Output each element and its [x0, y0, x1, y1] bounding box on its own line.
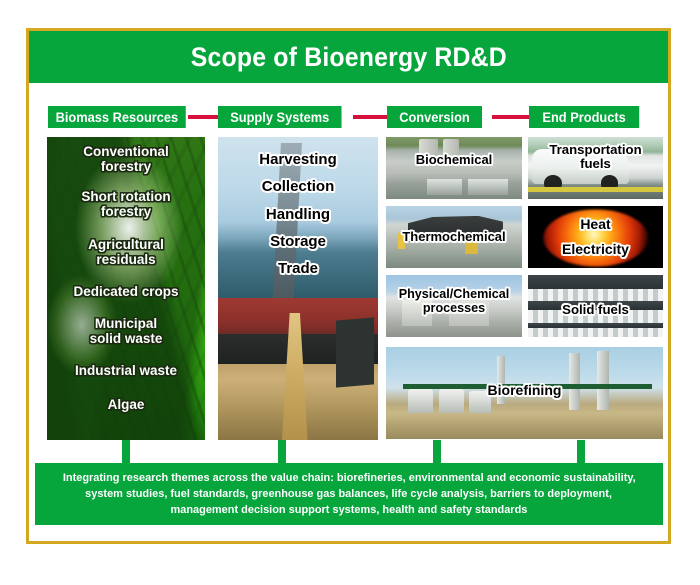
conversion-item-biochemical: Biochemical: [386, 153, 522, 167]
biomass-item-conventional-forestry: Conventional forestry: [47, 145, 205, 174]
footer-line-3: management decision support systems, hea…: [171, 502, 528, 518]
supply-item-storage: Storage: [218, 234, 378, 250]
stage-header-biomass-resources[interactable]: Biomass Resources: [48, 106, 186, 128]
biomass-item-municipal-solid-waste: Municipal solid waste: [47, 317, 205, 346]
pellet-row-light-1: [528, 289, 663, 301]
product-item-electricity: Electricity: [528, 242, 663, 257]
stage-header-supply-systems[interactable]: Supply Systems: [218, 106, 342, 128]
conversion-item-physical-chemical-processes: Physical/Chemical processes: [386, 288, 522, 315]
supply-item-collection: Collection: [218, 179, 378, 195]
page-title: Scope of Bioenergy RD&D: [190, 42, 506, 73]
stage-header-conversion[interactable]: Conversion: [387, 106, 482, 128]
biomass-item-short-rotation-forestry: Short rotation forestry: [47, 190, 205, 219]
column-supply-systems: Harvesting Collection Handling Storage T…: [218, 137, 378, 440]
footer-banner: Integrating research themes across the v…: [35, 463, 663, 525]
product-item-solid-fuels: Solid fuels: [528, 303, 663, 317]
column-conversion: Biochemical Thermochemical Physical/Chem…: [386, 137, 522, 337]
solid-fuels-briquettes-photo: Solid fuels: [528, 275, 663, 337]
supply-item-harvesting: Harvesting: [218, 152, 378, 168]
yellow-curb-shape: [528, 187, 663, 191]
transportation-van-photo: Transportation fuels: [528, 137, 663, 199]
heat-electricity-fire-photo: Heat Electricity: [528, 206, 663, 268]
thermochemical-plant-photo: Thermochemical: [386, 206, 522, 268]
biorefining-label: Biorefining: [386, 383, 663, 398]
biochemical-plant-photo: Biochemical: [386, 137, 522, 199]
supply-item-handling: Handling: [218, 207, 378, 223]
footer-line-2: system studies, fuel standards, greenhou…: [86, 486, 613, 502]
footer-line-1: Integrating research themes across the v…: [63, 470, 636, 486]
distillation-tower-2: [597, 351, 609, 410]
structure-shape-2: [468, 179, 509, 195]
dock-structure-shape: [336, 317, 374, 387]
pellet-row-light-3: [528, 328, 663, 337]
harbour-grain-loading-photo: Harvesting Collection Handling Storage T…: [218, 137, 378, 440]
column-end-products: Transportation fuels Heat Electricity So…: [528, 137, 663, 337]
forest-canopy-photo: Conventional forestry Short rotation for…: [47, 137, 205, 440]
supply-item-trade: Trade: [218, 261, 378, 277]
physical-chemical-plant-photo: Physical/Chemical processes: [386, 275, 522, 337]
biomass-item-industrial-waste: Industrial waste: [47, 364, 205, 379]
conversion-item-thermochemical: Thermochemical: [386, 230, 522, 244]
pellet-row-dark-1: [528, 275, 663, 289]
column-biomass-resources: Conventional forestry Short rotation for…: [47, 137, 205, 440]
biomass-item-agricultural-residuals: Agricultural residuals: [47, 238, 205, 267]
biorefining-plant-photo: Biorefining: [386, 347, 663, 439]
stage-header-row: Biomass Resources Supply Systems Convers…: [26, 106, 671, 130]
poster-title-banner: Scope of Bioenergy RD&D: [29, 31, 668, 83]
distillation-tower-1: [569, 353, 580, 410]
structure-shape-1: [427, 179, 462, 195]
product-item-heat: Heat: [528, 217, 663, 232]
product-item-transportation-fuels: Transportation fuels: [528, 143, 663, 172]
poster-root: Scope of Bioenergy RD&D Biomass Resource…: [0, 0, 700, 585]
biomass-item-algae: Algae: [47, 398, 205, 413]
stage-header-end-products[interactable]: End Products: [529, 106, 639, 128]
biomass-item-dedicated-crops: Dedicated crops: [47, 285, 205, 300]
